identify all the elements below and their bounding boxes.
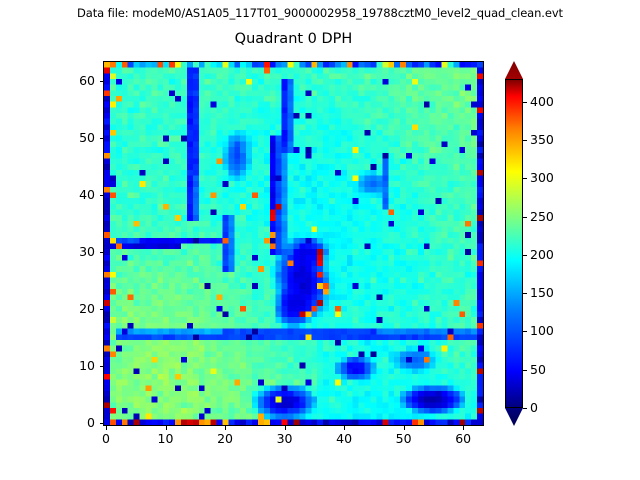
x-tick-label: 30: [265, 431, 305, 446]
x-tick-mark: [285, 426, 286, 430]
x-tick-mark: [225, 426, 226, 430]
colorbar-tick-mark: [523, 140, 527, 141]
data-file-suptitle: Data file: modeM0/AS1A05_117T01_90000029…: [0, 6, 640, 20]
colorbar-tick-label: 200: [530, 247, 554, 262]
y-tick-label: 0: [59, 415, 95, 430]
x-tick-label: 60: [443, 431, 483, 446]
colorbar-tick-label: 50: [530, 362, 546, 377]
colorbar-tick-mark: [523, 217, 527, 218]
x-tick-label: 0: [86, 431, 126, 446]
colorbar-tick-mark: [523, 408, 527, 409]
x-tick-label: 10: [146, 431, 186, 446]
colorbar-tick-mark: [523, 370, 527, 371]
colorbar-extend-min-arrow: [505, 408, 523, 426]
y-tick-label: 50: [59, 130, 95, 145]
y-tick-mark: [100, 81, 104, 82]
colorbar-tick-mark: [523, 255, 527, 256]
y-tick-mark: [100, 138, 104, 139]
colorbar-tick-label: 250: [530, 209, 554, 224]
x-tick-mark: [106, 426, 107, 430]
y-tick-label: 20: [59, 301, 95, 316]
x-tick-mark: [344, 426, 345, 430]
colorbar: [505, 61, 523, 426]
colorbar-gradient: [505, 79, 523, 408]
y-tick-mark: [100, 423, 104, 424]
colorbar-tick-mark: [523, 178, 527, 179]
y-tick-label: 60: [59, 73, 95, 88]
x-tick-mark: [463, 426, 464, 430]
y-tick-mark: [100, 195, 104, 196]
y-tick-label: 30: [59, 244, 95, 259]
y-tick-mark: [100, 252, 104, 253]
colorbar-tick-label: 100: [530, 323, 554, 338]
y-tick-mark: [100, 366, 104, 367]
x-tick-mark: [166, 426, 167, 430]
y-tick-label: 10: [59, 358, 95, 373]
colorbar-tick-mark: [523, 293, 527, 294]
colorbar-tick-mark: [523, 331, 527, 332]
colorbar-extend-max-arrow: [505, 61, 523, 79]
x-tick-label: 50: [384, 431, 424, 446]
colorbar-tick-label: 300: [530, 170, 554, 185]
dph-heatmap-axes: [103, 61, 484, 426]
colorbar-tick-label: 400: [530, 94, 554, 109]
matplotlib-figure: Data file: modeM0/AS1A05_117T01_90000029…: [0, 0, 640, 480]
axes-title: Quadrant 0 DPH: [103, 31, 484, 47]
x-tick-label: 20: [205, 431, 245, 446]
detector-pixel-heatmap: [104, 62, 483, 425]
colorbar-tick-label: 0: [530, 400, 538, 415]
colorbar-tick-label: 350: [530, 132, 554, 147]
colorbar-tick-mark: [523, 102, 527, 103]
x-tick-label: 40: [324, 431, 364, 446]
y-tick-label: 40: [59, 187, 95, 202]
colorbar-tick-label: 150: [530, 285, 554, 300]
x-tick-mark: [404, 426, 405, 430]
y-tick-mark: [100, 309, 104, 310]
